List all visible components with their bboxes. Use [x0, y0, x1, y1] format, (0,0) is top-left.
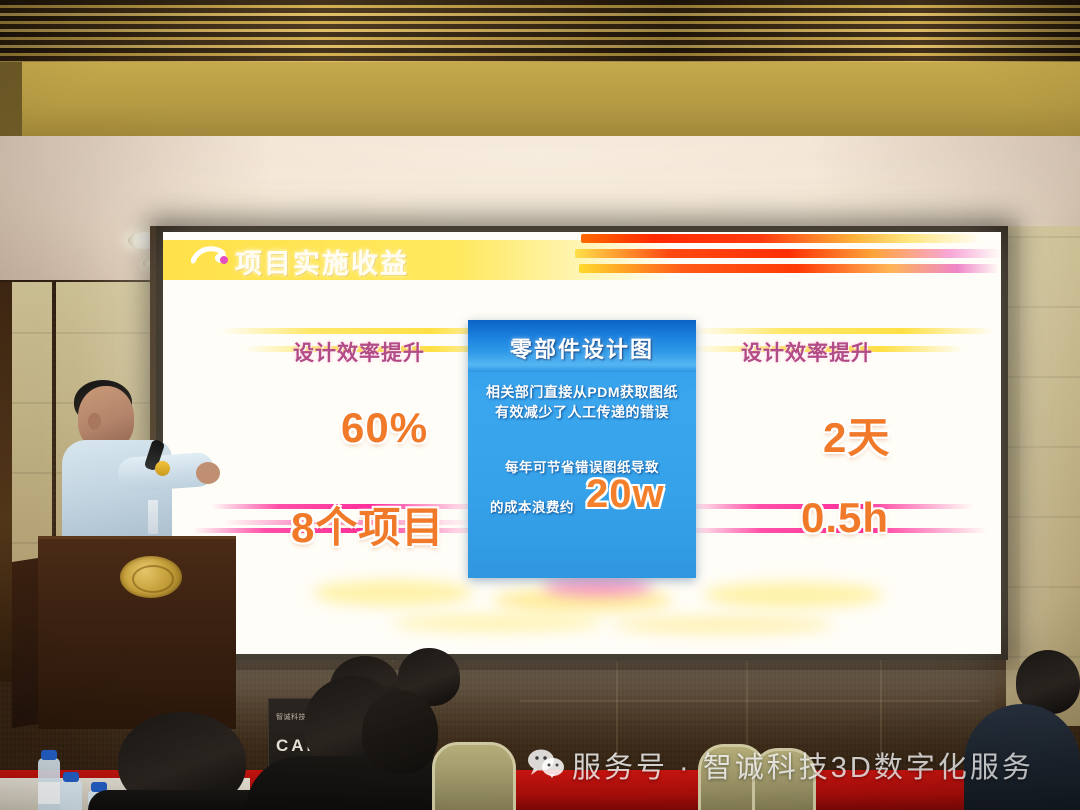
presenter-hand: [196, 462, 220, 484]
decor-stripe: [579, 264, 999, 273]
wall-seam: [520, 700, 980, 702]
wechat-icon: [527, 748, 565, 778]
projection-screen: 项目实施收益 设计效率提升 60%: [163, 232, 1001, 654]
decor-stripe: [581, 234, 981, 243]
stat-value-right-secondary: 0.5h: [801, 494, 889, 542]
panel-save-value: 20w: [586, 472, 665, 517]
swoosh-logo: [191, 244, 229, 268]
watermark-text: 服务号 · 智诚科技3D数字化服务: [572, 744, 1034, 786]
stat-value-right-primary: 2天: [823, 404, 890, 465]
panel-desc-line-1: 相关部门直接从PDM获取图纸: [468, 382, 696, 402]
panel-heading: 零部件设计图: [468, 332, 696, 364]
photo-scene: 项目实施收益 设计效率提升 60%: [0, 0, 1080, 810]
wall-wood-strip: [0, 282, 12, 682]
decor-glow: [313, 580, 473, 606]
stat-value-left-secondary: 8个项目: [291, 494, 444, 555]
audience-head: [362, 690, 438, 774]
water-bottle: [38, 758, 60, 810]
stat-label-left: 设计效率提升: [293, 337, 425, 367]
bottle-cap: [63, 772, 79, 782]
microphone-head: [155, 461, 170, 476]
presentation-slide: 项目实施收益 设计效率提升 60%: [163, 232, 1001, 654]
decor-glow: [543, 578, 653, 596]
bottle-label: [38, 782, 60, 804]
bottle-cap: [41, 750, 57, 760]
decor-glow: [703, 582, 883, 608]
presenter-ear: [88, 413, 101, 430]
decor-stripe: [575, 249, 1001, 258]
decor-glow: [393, 614, 603, 632]
center-blue-panel: 零部件设计图 相关部门直接从PDM获取图纸 有效减少了人工传递的错误 每年可节省…: [468, 320, 696, 578]
stat-label-right: 设计效率提升: [741, 337, 873, 367]
ceiling-gold-band: [0, 62, 1080, 140]
gold-oval-emblem: [120, 556, 182, 598]
stat-value-left-primary: 60%: [341, 404, 428, 452]
decor-yellow-line: [693, 328, 993, 334]
ceiling-gold-lip: [0, 62, 22, 140]
presenter-lanyard: [148, 500, 158, 534]
podium-side: [12, 558, 38, 728]
panel-desc-line-2: 有效减少了人工传递的错误: [468, 402, 696, 422]
slide-title: 项目实施收益: [235, 242, 409, 281]
water-bottle: [60, 780, 82, 810]
chair-back: [432, 742, 516, 810]
decor-glow: [613, 616, 833, 634]
